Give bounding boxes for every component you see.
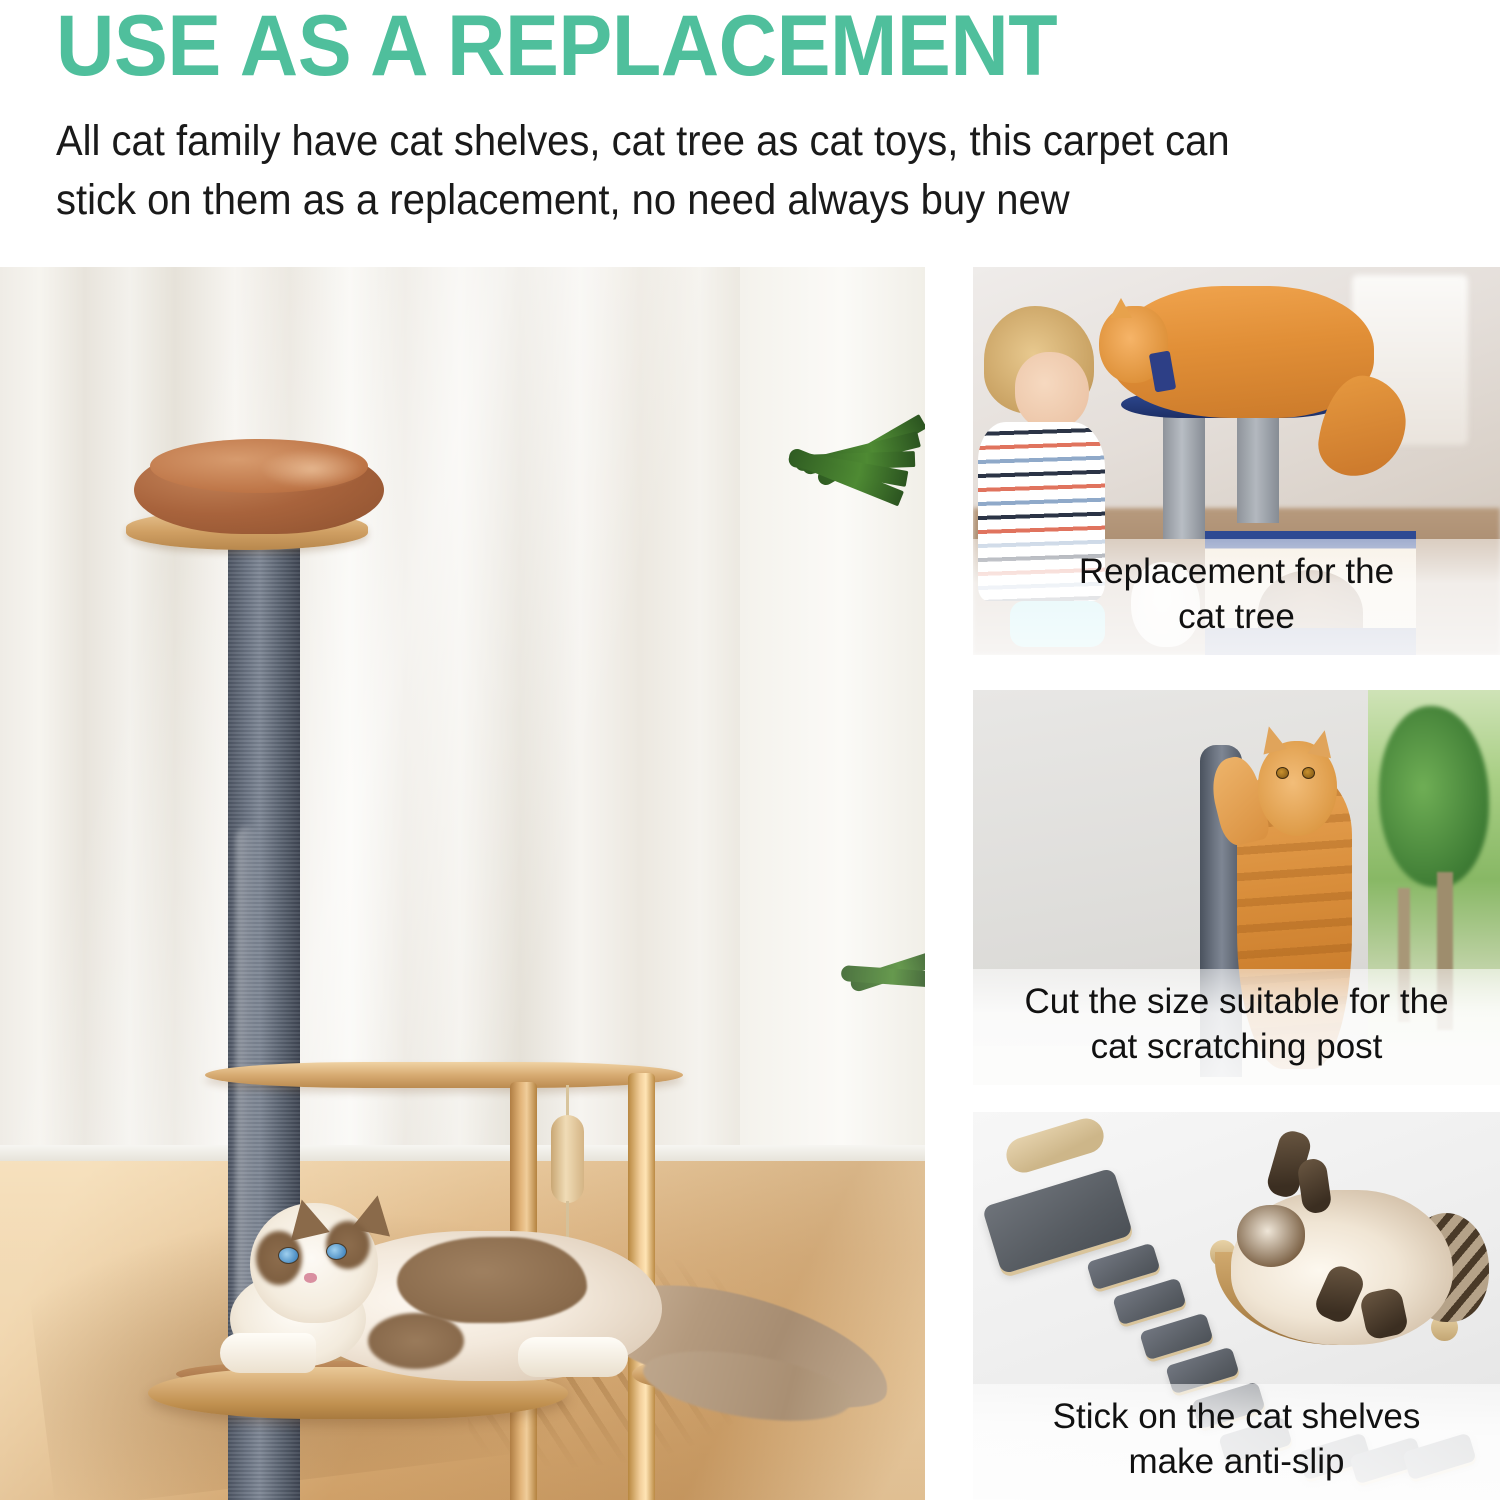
header-block: USE AS A REPLACEMENT All cat family have…	[0, 0, 1500, 267]
cat-saddle-marking	[397, 1237, 587, 1323]
caption-line-2: cat scratching post	[989, 1024, 1484, 1069]
middle-platform-board	[205, 1062, 683, 1088]
panel-replacement-cat-tree: Replacement for the cat tree	[973, 267, 1500, 655]
panel-cut-to-size: Cut the size suitable for the cat scratc…	[973, 690, 1500, 1085]
caption-line-1: Stick on the cat shelves	[989, 1394, 1484, 1439]
panel-caption: Stick on the cat shelves make anti-slip	[973, 1384, 1500, 1500]
sisal-post-right	[1237, 414, 1279, 523]
cat-flank-patch	[368, 1313, 464, 1369]
infographic-page: USE AS A REPLACEMENT All cat family have…	[0, 0, 1500, 1500]
caption-line-1: Replacement for the	[989, 549, 1484, 594]
panel-caption: Cut the size suitable for the cat scratc…	[973, 969, 1500, 1085]
subtitle: All cat family have cat shelves, cat tre…	[56, 112, 1358, 230]
cat-nose	[304, 1273, 317, 1283]
sisal-post-left	[1163, 414, 1205, 538]
panel-caption: Replacement for the cat tree	[973, 539, 1500, 655]
subtitle-line-2: stick on them as a replacement, no need …	[56, 171, 1358, 230]
cat-hind-paw	[518, 1337, 628, 1377]
ragdoll-cat	[222, 1185, 742, 1400]
page-title: USE AS A REPLACEMENT	[56, 0, 1057, 98]
cat-eye-left	[1276, 767, 1289, 779]
baseboard	[0, 1145, 925, 1161]
subtitle-line-1: All cat family have cat shelves, cat tre…	[56, 112, 1358, 171]
boy-face	[1015, 352, 1089, 430]
caption-line-2: cat tree	[989, 594, 1484, 639]
house-plant-lower	[841, 945, 925, 1035]
cat-front-paw	[220, 1333, 316, 1373]
house-plant	[795, 403, 925, 633]
cat-eye-left	[278, 1247, 299, 1264]
panel-anti-slip-shelves: Stick on the cat shelves make anti-slip	[973, 1112, 1500, 1500]
plush-bed-highlight	[260, 449, 364, 489]
orange-cat-ear	[1110, 298, 1132, 318]
caption-line-1: Cut the size suitable for the	[989, 979, 1484, 1024]
hero-product-photo	[0, 267, 925, 1500]
cat-head	[1237, 1205, 1306, 1267]
caption-line-2: make anti-slip	[989, 1439, 1484, 1484]
cat-eye-right	[326, 1243, 347, 1260]
